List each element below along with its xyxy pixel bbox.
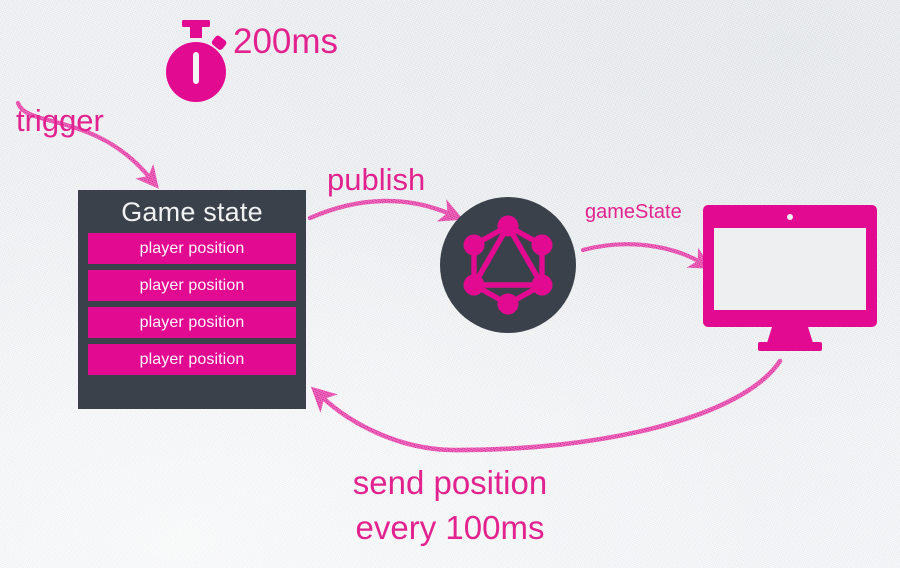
send-position-label: send position every 100ms xyxy=(0,460,900,550)
player-position-row: player position xyxy=(88,233,296,264)
stopwatch-icon xyxy=(160,20,240,110)
trigger-label: trigger xyxy=(16,103,104,139)
gamestate-arrow xyxy=(583,244,700,262)
send-position-arrow xyxy=(322,361,780,450)
desktop-monitor-icon xyxy=(700,203,880,353)
timer-interval-label: 200ms xyxy=(233,22,338,62)
game-state-title: Game state xyxy=(88,196,296,229)
player-position-row: player position xyxy=(88,270,296,301)
graphql-node xyxy=(440,197,576,333)
player-position-row: player position xyxy=(88,344,296,375)
graphql-logo-icon xyxy=(440,197,576,333)
player-position-row: player position xyxy=(88,307,296,338)
send-position-line-2: every 100ms xyxy=(0,505,900,550)
diagram-canvas: Game state player position player positi… xyxy=(0,0,900,568)
game-state-card: Game state player position player positi… xyxy=(78,190,306,409)
send-position-line-1: send position xyxy=(0,460,900,505)
gamestate-label: gameState xyxy=(585,201,682,224)
publish-arrow xyxy=(310,201,450,218)
desktop-monitor-glyph xyxy=(700,203,880,353)
publish-label: publish xyxy=(327,162,425,198)
stopwatch-glyph xyxy=(160,20,240,110)
